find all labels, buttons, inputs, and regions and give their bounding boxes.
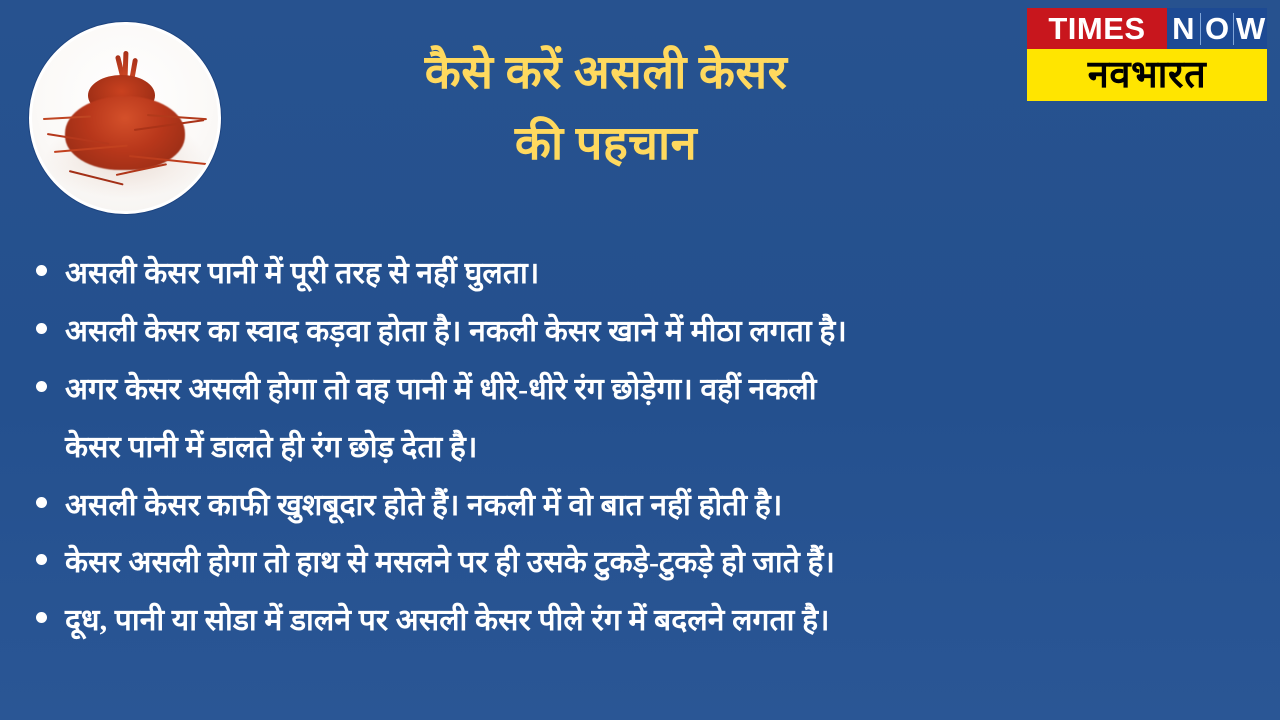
logo-times-text: TIMES: [1027, 8, 1167, 49]
logo-bottom-band: नवभारत: [1027, 49, 1267, 101]
poster-canvas: कैसे करें असली केसर की पहचान TIMES N O W…: [0, 0, 1280, 720]
logo-now-letter-o: O: [1200, 13, 1234, 45]
logo-top-band: TIMES N O W: [1027, 8, 1267, 49]
logo-navbharat-text: नवभारत: [1088, 56, 1206, 94]
list-item-text: दूध, पानी या सोडा में डालने पर असली केसर…: [65, 592, 830, 650]
page-title: कैसे करें असली केसर की पहचान: [226, 38, 986, 181]
list-item: असली केसर पानी में पूरी तरह से नहीं घुलत…: [0, 245, 1280, 303]
bullet-dot-icon: [36, 265, 47, 276]
list-item: अगर केसर असली होगा तो वह पानी में धीरे-ध…: [0, 361, 1280, 477]
list-item-text: असली केसर का स्वाद कड़वा होता है। नकली क…: [65, 303, 847, 361]
list-item-text-block: अगर केसर असली होगा तो वह पानी में धीरे-ध…: [65, 361, 817, 477]
tips-list: असली केसर पानी में पूरी तरह से नहीं घुलत…: [0, 245, 1280, 650]
list-item: असली केसर काफी खुशबूदार होते हैं। नकली म…: [0, 477, 1280, 535]
logo-now-text: N O W: [1167, 8, 1267, 49]
list-item: दूध, पानी या सोडा में डालने पर असली केसर…: [0, 592, 1280, 650]
list-item-text-line-1: अगर केसर असली होगा तो वह पानी में धीरे-ध…: [65, 361, 817, 419]
bullet-dot-icon: [36, 381, 47, 392]
bullet-dot-icon: [36, 612, 47, 623]
bullet-dot-icon: [36, 323, 47, 334]
list-item: केसर असली होगा तो हाथ से मसलने पर ही उसक…: [0, 534, 1280, 592]
logo-now-letter-n: N: [1167, 13, 1200, 45]
saffron-photo: [32, 25, 218, 211]
list-item: असली केसर का स्वाद कड़वा होता है। नकली क…: [0, 303, 1280, 361]
logo-now-letter-w: W: [1233, 13, 1267, 45]
saffron-image-badge: [29, 22, 221, 214]
poster-header: कैसे करें असली केसर की पहचान TIMES N O W…: [0, 0, 1280, 225]
title-line-2: की पहचान: [226, 109, 986, 180]
title-line-1: कैसे करें असली केसर: [226, 38, 986, 109]
bullet-dot-icon: [36, 554, 47, 565]
list-item-text: केसर असली होगा तो हाथ से मसलने पर ही उसक…: [65, 534, 835, 592]
list-item-text: असली केसर पानी में पूरी तरह से नहीं घुलत…: [65, 245, 539, 303]
list-item-text: असली केसर काफी खुशबूदार होते हैं। नकली म…: [65, 477, 782, 535]
bullet-dot-icon: [36, 497, 47, 508]
saffron-strand: [69, 170, 124, 186]
list-item-text-line-2: केसर पानी में डालते ही रंग छोड़ देता है।: [65, 419, 817, 477]
times-now-navbharat-logo[interactable]: TIMES N O W नवभारत: [1027, 8, 1267, 101]
